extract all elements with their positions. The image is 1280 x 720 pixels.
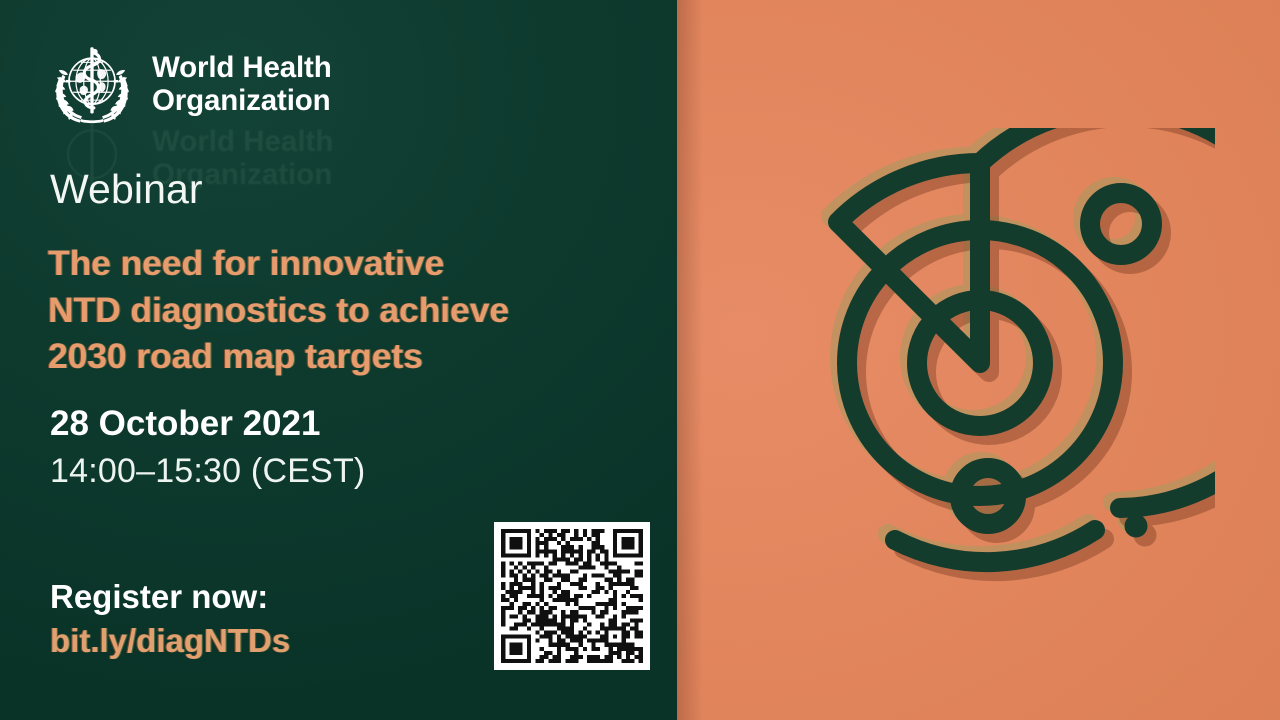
qr-code[interactable] — [494, 522, 650, 670]
webinar-title: The need for innovative NTD diagnostics … — [48, 240, 648, 380]
event-date: 28 October 2021 — [50, 404, 320, 444]
qr-code-canvas — [501, 529, 643, 663]
title-line-2: NTD diagnostics to achieve — [48, 287, 648, 334]
radar-illustration — [745, 128, 1215, 598]
register-url[interactable]: bit.ly/diagNTDs — [50, 622, 290, 660]
title-line-1: The need for innovative — [48, 240, 648, 287]
register-label: Register now: — [50, 578, 268, 616]
event-time: 14:00–15:30 (CEST) — [50, 452, 365, 491]
left-info-panel: World Health Organization — [0, 0, 677, 720]
title-line-3: 2030 road map targets — [48, 333, 648, 380]
panel-edge-shadow — [677, 0, 703, 720]
kicker-label: Webinar — [50, 166, 203, 213]
